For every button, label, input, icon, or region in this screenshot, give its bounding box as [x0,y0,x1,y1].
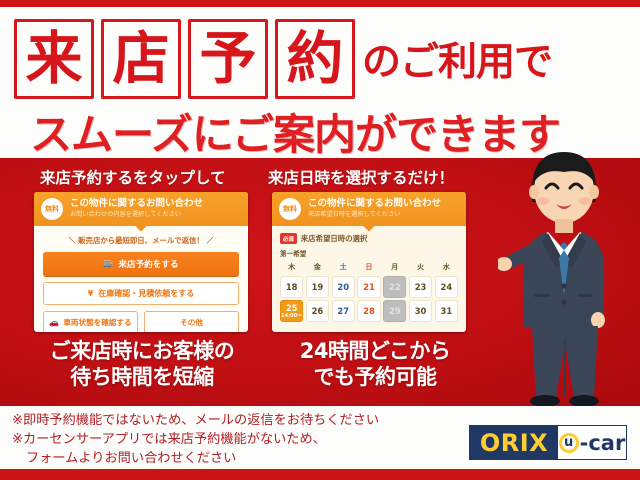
calendar-day-number: 24 [441,282,453,292]
calendar-header-title: この物件に関するお問い合わせ [308,199,441,210]
kanji-box-4: 約 [275,19,355,99]
mockup-header-text: この物件に関するお問い合わせ お問い合わせの内容を選択してください [70,199,203,218]
preference-label: 第一希望 [280,248,458,258]
reserve-visit-button[interactable]: 🏬 来店予約をする [43,252,239,276]
reserve-visit-label: 来店予約をする [118,258,178,270]
calendar-day-24[interactable]: 24 [435,276,458,298]
headline-tail: のご利用で [362,31,552,87]
benefit-left-line2: 待ち時間を短縮 [18,364,266,390]
logo-orix-text: ORIX [470,426,558,459]
calendar-day-number: 21 [363,282,375,292]
calendar-weekday-木: 木 [280,262,303,273]
mockup-body: ＼ 販売店から最短即日、メールで返信！ ／ 🏬 来店予約をする ¥ 在庫確認・見… [34,226,248,332]
calendar-title: 来店希望日時の選択 [301,233,368,244]
other-button[interactable]: その他 [144,311,239,332]
free-badge: 無料 [41,198,63,220]
calendar-day-number: 19 [312,282,324,292]
yen-icon: ¥ [88,290,94,298]
logo-u-circle: u [559,433,579,453]
calendar-day-number: 25 [286,303,298,313]
calendar-body: 必須 来店希望日時の選択 第一希望 木金土日月火水181920212223242… [272,226,466,328]
check-condition-button[interactable]: 🚗 車両状態を確認する [43,311,138,332]
footer-note-2: ※カーセンサーアプリでは来店予約機能がないため、 [12,431,326,450]
calendar-day-25[interactable]: 2514:00〜 [280,300,303,322]
advertisement-banner: 来 店 予 約 のご利用で スムーズにご案内ができます 来店予約するをタップして… [0,0,640,480]
calendar-title-row: 必須 来店希望日時の選択 [280,233,458,244]
kanji-box-3: 予 [188,19,268,99]
other-label: その他 [180,317,203,328]
required-badge: 必須 [280,233,297,244]
calendar-weekday-日: 日 [357,262,380,273]
app-mockup-inquiry: 無料 この物件に関するお問い合わせ お問い合わせの内容を選択してください ＼ 販… [34,192,248,332]
calendar-weekday-火: 火 [409,262,432,273]
top-red-rule [0,0,640,7]
calendar-mockup-header: 無料 この物件に関するお問い合わせ 来店希望日時を選択してください [272,192,466,226]
orix-ucar-logo: ORIX u -car [469,425,627,460]
stock-quote-button[interactable]: ¥ 在庫確認・見積依頼をする [43,282,239,305]
mockup-header-subtitle: お問い合わせの内容を選択してください [70,211,203,218]
calendar-header-text: この物件に関するお問い合わせ 来店希望日時を選択してください [308,199,441,218]
footer-note-3: フォームよりお問い合わせください [26,450,236,469]
mockup-header: 無料 この物件に関するお問い合わせ お問い合わせの内容を選択してください [34,192,248,226]
car-icon: 🚗 [49,319,59,327]
calendar-day-19[interactable]: 19 [306,276,329,298]
benefit-left-line1: ご来店時にお客様の [18,338,266,364]
app-mockup-calendar: 無料 この物件に関するお問い合わせ 来店希望日時を選択してください 必須 来店希… [272,192,466,332]
kanji-box-1: 来 [14,19,94,99]
kanji-box-2: 店 [101,19,181,99]
calendar-day-number: 30 [415,306,427,316]
calendar-day-18[interactable]: 18 [280,276,303,298]
bottom-red-rule [0,469,640,480]
calendar-day-number: 23 [415,282,427,292]
calendar-day-31[interactable]: 31 [435,300,458,322]
headline-row-1: 来 店 予 約 のご利用で [14,19,552,99]
calendar-day-29: 29 [383,300,406,322]
calendar-day-number: 18 [286,282,298,292]
right-section-caption: 来店日時を選択するだけ！ [268,166,454,188]
mockup-header-title: この物件に関するお問い合わせ [70,199,203,210]
free-badge: 無料 [279,198,301,220]
benefit-right: 24時間どこから でも予約可能 [262,338,488,391]
calendar-day-21[interactable]: 21 [357,276,380,298]
calendar-day-26[interactable]: 26 [306,300,329,322]
calendar-day-number: 29 [389,306,401,316]
calendar-day-30[interactable]: 30 [409,300,432,322]
calendar-day-22: 22 [383,276,406,298]
calendar-weekday-月: 月 [383,262,406,273]
calendar-day-28[interactable]: 28 [357,300,380,322]
store-icon: 🏬 [103,260,113,268]
calendar-day-number: 31 [441,306,453,316]
calendar-day-20[interactable]: 20 [332,276,355,298]
benefit-left: ご来店時にお客様の 待ち時間を短縮 [18,338,266,391]
benefit-right-line1: 24時間どこから [262,338,488,364]
lead-line: ＼ 販売店から最短即日、メールで返信！ ／ [43,235,239,246]
benefit-right-line2: でも予約可能 [262,364,488,390]
calendar-grid: 木金土日月火水181920212223242514:00〜26272829303… [280,262,458,322]
logo-car-text: -car [580,431,626,455]
calendar-weekday-水: 水 [435,262,458,273]
check-condition-label: 車両状態を確認する [63,317,131,328]
logo-ucar-block: u -car [558,426,626,459]
left-section-caption: 来店予約するをタップして [40,166,226,188]
calendar-weekday-土: 土 [332,262,355,273]
calendar-day-23[interactable]: 23 [409,276,432,298]
headline-section: 来 店 予 約 のご利用で スムーズにご案内ができます [0,7,640,158]
calendar-day-number: 28 [363,306,375,316]
calendar-header-subtitle: 来店希望日時を選択してください [308,211,441,218]
calendar-day-number: 22 [389,282,401,292]
footer-note-1: ※即時予約機能ではないため、メールの返信をお待ちください [12,412,379,431]
calendar-day-27[interactable]: 27 [332,300,355,322]
salesman-illustration [498,146,630,408]
calendar-day-number: 20 [337,282,349,292]
secondary-button-row: 🚗 車両状態を確認する その他 [43,311,239,332]
calendar-day-number: 27 [337,306,349,316]
stock-quote-label: 在庫確認・見積依頼をする [98,288,194,299]
calendar-day-number: 26 [312,306,324,316]
calendar-weekday-金: 金 [306,262,329,273]
calendar-day-slot: 14:00〜 [281,314,302,319]
